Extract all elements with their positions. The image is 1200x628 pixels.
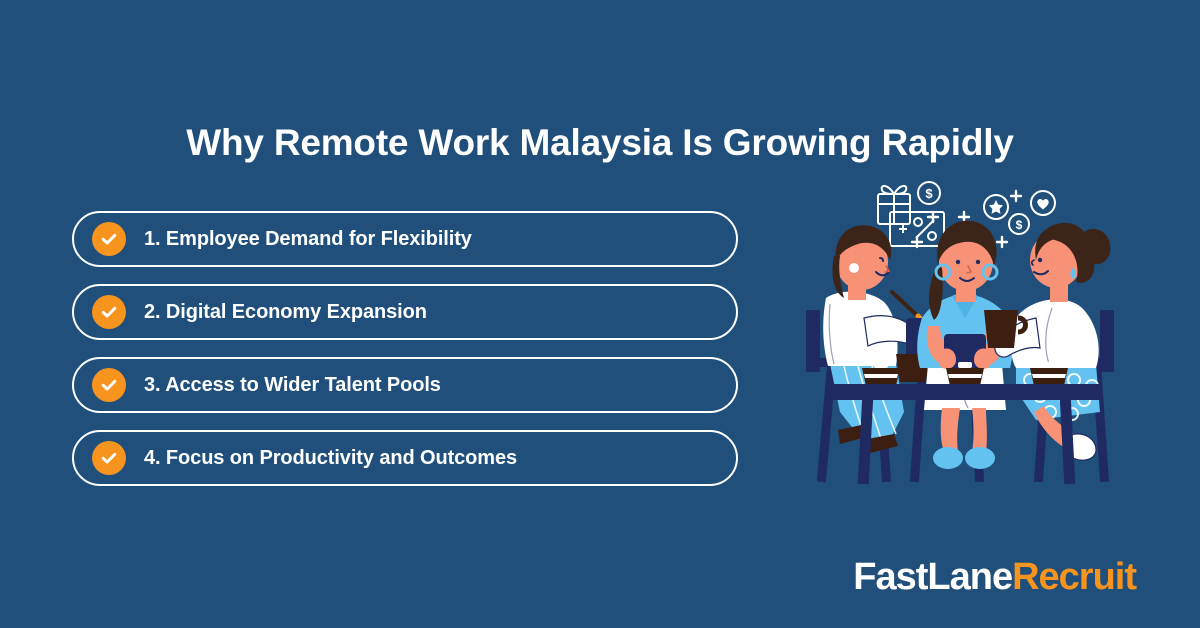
woman-right bbox=[984, 223, 1110, 460]
svg-text:$: $ bbox=[925, 186, 933, 201]
sparkle-plus-icon bbox=[997, 237, 1007, 247]
list-item-label: 4. Focus on Productivity and Outcomes bbox=[144, 447, 517, 470]
cafe-table bbox=[828, 362, 1102, 484]
svg-text:$: $ bbox=[1016, 218, 1023, 232]
gift-box-icon bbox=[878, 186, 910, 224]
dollar-coin-icon: $ bbox=[1009, 214, 1029, 234]
list-item-3[interactable]: 3. Access to Wider Talent Pools bbox=[72, 357, 738, 413]
list-item-1[interactable]: 1. Employee Demand for Flexibility bbox=[72, 211, 738, 267]
dollar-coin-icon: $ bbox=[918, 182, 940, 204]
list-item-4[interactable]: 4. Focus on Productivity and Outcomes bbox=[72, 430, 738, 486]
banner-root: Why Remote Work Malaysia Is Growing Rapi… bbox=[0, 0, 1200, 628]
list-item-2[interactable]: 2. Digital Economy Expansion bbox=[72, 284, 738, 340]
three-women-at-cafe-table-illustration: $ $ bbox=[800, 168, 1160, 498]
check-circle-icon bbox=[92, 222, 126, 256]
sparkle-plus-icon bbox=[928, 212, 938, 222]
check-circle-icon bbox=[92, 368, 126, 402]
brand-logo[interactable]: FastLaneRecruit bbox=[853, 558, 1136, 596]
sparkle-plus-icon bbox=[959, 212, 969, 222]
logo-text-primary: FastLane bbox=[853, 556, 1012, 598]
star-coin-icon bbox=[984, 195, 1008, 219]
logo-text-accent: Recruit bbox=[1012, 556, 1136, 598]
list-item-label: 1. Employee Demand for Flexibility bbox=[144, 228, 472, 251]
check-circle-icon bbox=[92, 295, 126, 329]
check-circle-icon bbox=[92, 441, 126, 475]
heart-coin-icon bbox=[1031, 191, 1055, 215]
checklist: 1. Employee Demand for Flexibility 2. Di… bbox=[72, 211, 738, 503]
list-item-label: 3. Access to Wider Talent Pools bbox=[144, 374, 441, 397]
list-item-label: 2. Digital Economy Expansion bbox=[144, 301, 427, 324]
sparkle-plus-icon bbox=[1011, 191, 1021, 201]
page-title: Why Remote Work Malaysia Is Growing Rapi… bbox=[0, 122, 1200, 165]
